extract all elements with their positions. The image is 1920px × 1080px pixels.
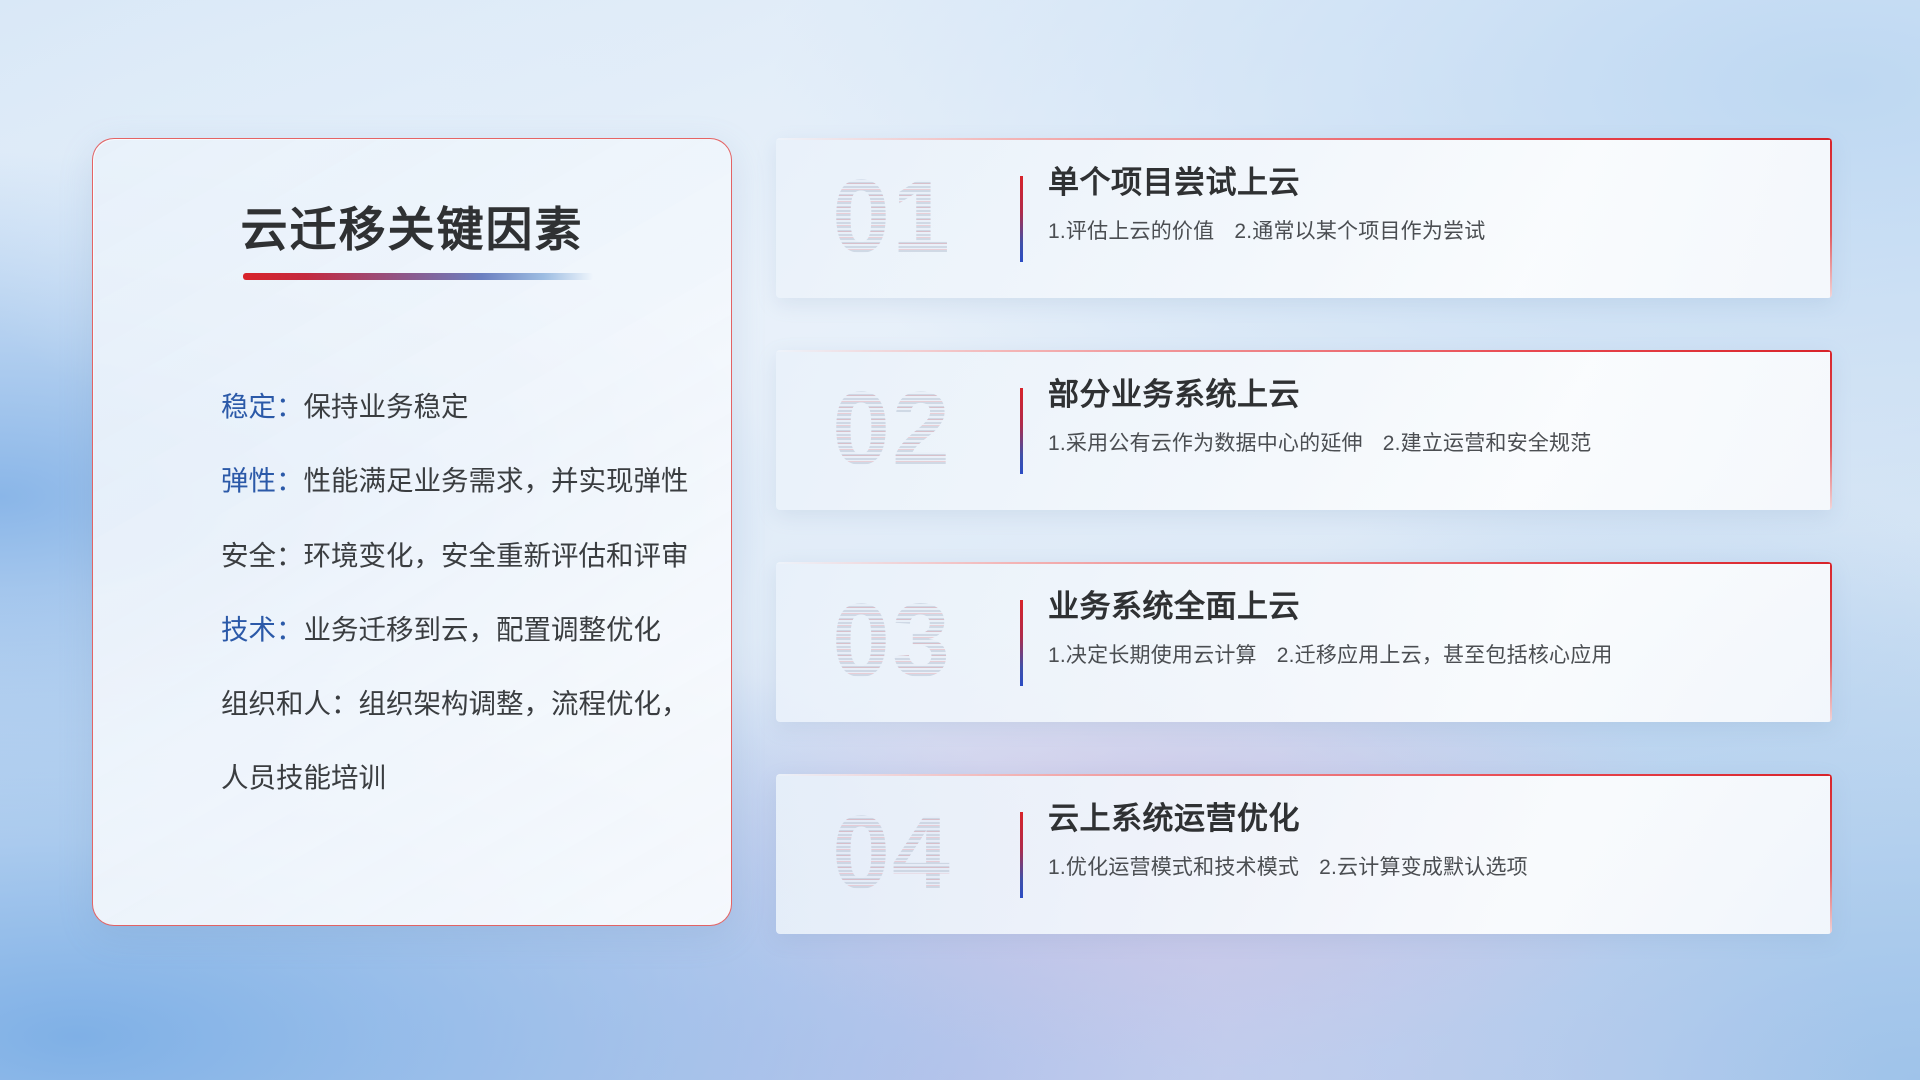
description-item: 2.建立运营和安全规范 <box>1383 432 1592 455</box>
stage-number-tint-overlay: 01 <box>804 154 980 280</box>
factor-label: 安全： <box>221 540 304 571</box>
factor-row: 安全：环境变化，安全重新评估和评审 <box>221 538 691 574</box>
stage-card-list: 0101单个项目尝试上云1.评估上云的价值2.通常以某个项目作为尝试0202部分… <box>776 138 1832 986</box>
stage-title: 部分业务系统上云 <box>1048 376 1802 415</box>
stage-card[interactable]: 0303业务系统全面上云1.决定长期使用云计算2.迁移应用上云，甚至包括核心应用 <box>776 562 1832 722</box>
factor-text: 性能满足业务需求，并实现弹性 <box>304 465 689 496</box>
stage-card[interactable]: 0404云上系统运营优化1.优化运营模式和技术模式2.云计算变成默认选项 <box>776 774 1832 934</box>
stage-description: 1.决定长期使用云计算2.迁移应用上云，甚至包括核心应用 <box>1048 639 1802 669</box>
factor-label: 技术： <box>221 614 304 645</box>
panel-title: 云迁移关键因素 <box>93 191 731 260</box>
factor-text: 组织架构调整，流程优化， <box>359 688 689 719</box>
stage-description: 1.优化运营模式和技术模式2.云计算变成默认选项 <box>1048 851 1802 881</box>
accent-divider-bar <box>1020 176 1023 262</box>
stage-number-tint-overlay: 02 <box>804 366 980 492</box>
description-item: 1.优化运营模式和技术模式 <box>1048 856 1299 879</box>
key-factors-panel: 云迁移关键因素 稳定：保持业务稳定弹性：性能满足业务需求，并实现弹性安全：环境变… <box>92 138 732 926</box>
factor-row: 人员技能培训 <box>221 760 691 796</box>
description-item: 1.决定长期使用云计算 <box>1048 644 1257 667</box>
slide-stage: 云迁移关键因素 稳定：保持业务稳定弹性：性能满足业务需求，并实现弹性安全：环境变… <box>0 0 1920 1080</box>
title-underline-rule <box>243 273 593 280</box>
stage-card[interactable]: 0101单个项目尝试上云1.评估上云的价值2.通常以某个项目作为尝试 <box>776 138 1832 298</box>
description-item: 1.采用公有云作为数据中心的延伸 <box>1048 432 1363 455</box>
stage-card[interactable]: 0202部分业务系统上云1.采用公有云作为数据中心的延伸2.建立运营和安全规范 <box>776 350 1832 510</box>
description-item: 2.迁移应用上云，甚至包括核心应用 <box>1277 644 1613 667</box>
factor-row: 技术：业务迁移到云，配置调整优化 <box>221 612 691 648</box>
factor-label: 组织和人： <box>221 688 359 719</box>
accent-divider-bar <box>1020 812 1023 898</box>
stage-description: 1.评估上云的价值2.通常以某个项目作为尝试 <box>1048 215 1802 245</box>
factor-row: 弹性：性能满足业务需求，并实现弹性 <box>221 463 691 499</box>
description-item: 2.通常以某个项目作为尝试 <box>1234 220 1485 243</box>
stage-title: 业务系统全面上云 <box>1048 588 1802 627</box>
stage-number-tint-overlay: 04 <box>804 790 980 916</box>
description-item: 1.评估上云的价值 <box>1048 220 1214 243</box>
factor-text: 保持业务稳定 <box>304 391 469 422</box>
factor-label: 弹性： <box>221 465 304 496</box>
stage-description: 1.采用公有云作为数据中心的延伸2.建立运营和安全规范 <box>1048 427 1802 457</box>
factor-list: 稳定：保持业务稳定弹性：性能满足业务需求，并实现弹性安全：环境变化，安全重新评估… <box>221 389 691 829</box>
stage-card-body: 部分业务系统上云1.采用公有云作为数据中心的延伸2.建立运营和安全规范 <box>1048 376 1802 457</box>
stage-card-body: 单个项目尝试上云1.评估上云的价值2.通常以某个项目作为尝试 <box>1048 164 1802 245</box>
factor-row: 稳定：保持业务稳定 <box>221 389 691 425</box>
stage-card-body: 业务系统全面上云1.决定长期使用云计算2.迁移应用上云，甚至包括核心应用 <box>1048 588 1802 669</box>
accent-divider-bar <box>1020 388 1023 474</box>
stage-number-tint-overlay: 03 <box>804 578 980 704</box>
accent-divider-bar <box>1020 600 1023 686</box>
stage-card-body: 云上系统运营优化1.优化运营模式和技术模式2.云计算变成默认选项 <box>1048 800 1802 881</box>
factor-text: 业务迁移到云，配置调整优化 <box>304 614 662 645</box>
description-item: 2.云计算变成默认选项 <box>1319 856 1528 879</box>
factor-text: 环境变化，安全重新评估和评审 <box>304 540 689 571</box>
stage-title: 单个项目尝试上云 <box>1048 164 1802 203</box>
factor-row: 组织和人：组织架构调整，流程优化， <box>221 686 691 722</box>
factor-label: 稳定： <box>221 391 304 422</box>
stage-title: 云上系统运营优化 <box>1048 800 1802 839</box>
factor-text: 人员技能培训 <box>221 762 386 793</box>
